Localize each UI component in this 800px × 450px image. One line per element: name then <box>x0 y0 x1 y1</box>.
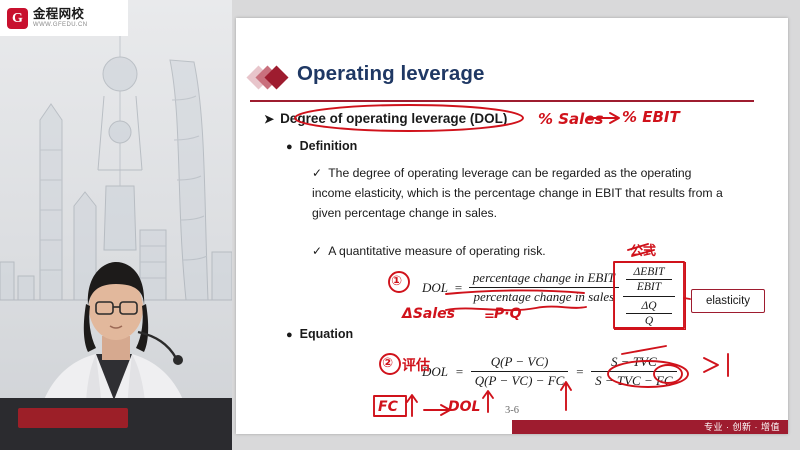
footer-left-block <box>236 420 512 434</box>
screen: G 金程网校 WWW.GFEDU.CN Operating leverage ➤… <box>0 0 800 450</box>
footer-bar: 专业 · 创新 · 增值 <box>236 420 788 434</box>
footer-slogan: 专业 · 创新 · 增值 <box>704 420 780 433</box>
video-pane: G 金程网校 WWW.GFEDU.CN <box>0 0 232 450</box>
logo-url: WWW.GFEDU.CN <box>33 22 87 28</box>
logo-mark-icon: G <box>7 8 28 29</box>
brand-logo: G 金程网校 WWW.GFEDU.CN <box>0 0 128 36</box>
logo-name-cn: 金程网校 <box>33 8 87 21</box>
desk-nameplate <box>18 408 128 428</box>
slide-number: 3-6 <box>236 405 788 416</box>
slide: Operating leverage ➤Degree of operating … <box>236 18 788 434</box>
handwriting-ink-layer <box>236 18 788 434</box>
